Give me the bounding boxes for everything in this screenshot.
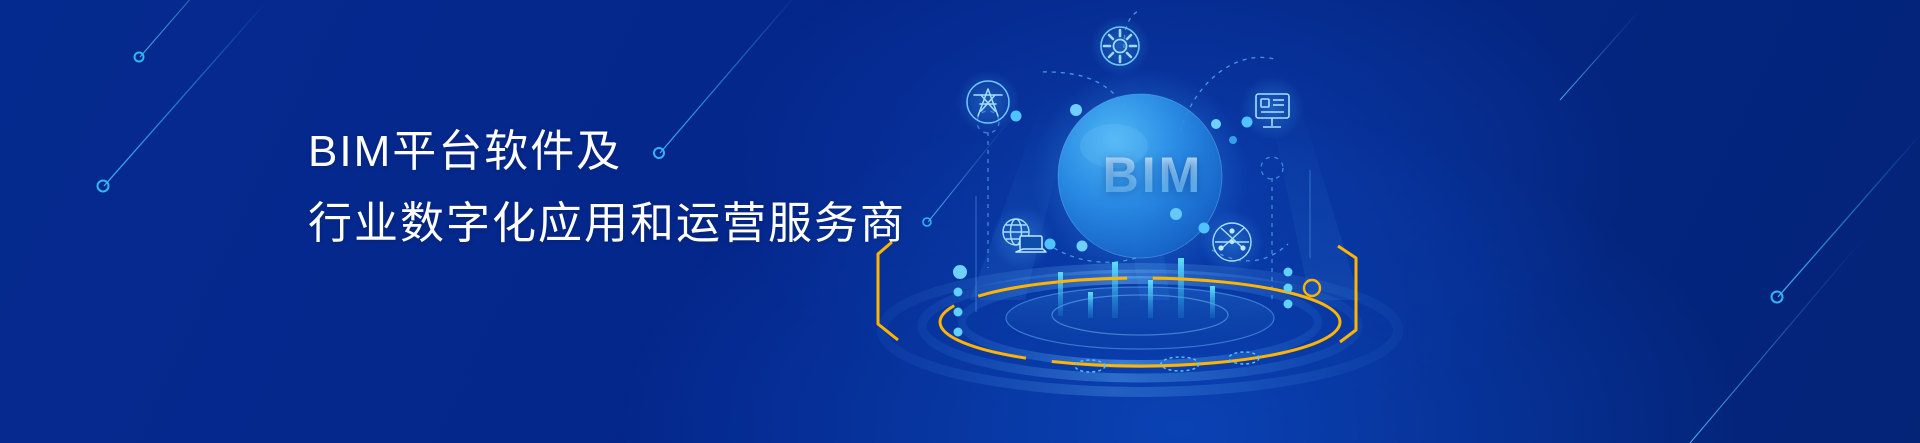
bim-hero-banner: BIM平台软件及 行业数字化应用和运营服务商 bbox=[0, 0, 1920, 443]
power-tower-icon bbox=[956, 70, 1022, 134]
headline-line-2: 行业数字化应用和运营服务商 bbox=[308, 188, 906, 260]
dot-markers-left bbox=[954, 288, 963, 337]
bim-illustration bbox=[840, 0, 1460, 443]
comet-line-6 bbox=[1560, 10, 1640, 100]
bim-sphere-label: BIM bbox=[1063, 146, 1243, 204]
comet-line-2 bbox=[135, 0, 251, 62]
comet-line-4 bbox=[1772, 135, 1920, 303]
comet-line-5 bbox=[1690, 240, 1862, 443]
gear-icon bbox=[1090, 16, 1150, 76]
dot-markers-right bbox=[1284, 268, 1293, 309]
comet-line-1 bbox=[98, 0, 269, 192]
headline-block: BIM平台软件及 行业数字化应用和运营服务商 bbox=[308, 116, 906, 260]
headline-line-1: BIM平台软件及 bbox=[308, 116, 906, 188]
